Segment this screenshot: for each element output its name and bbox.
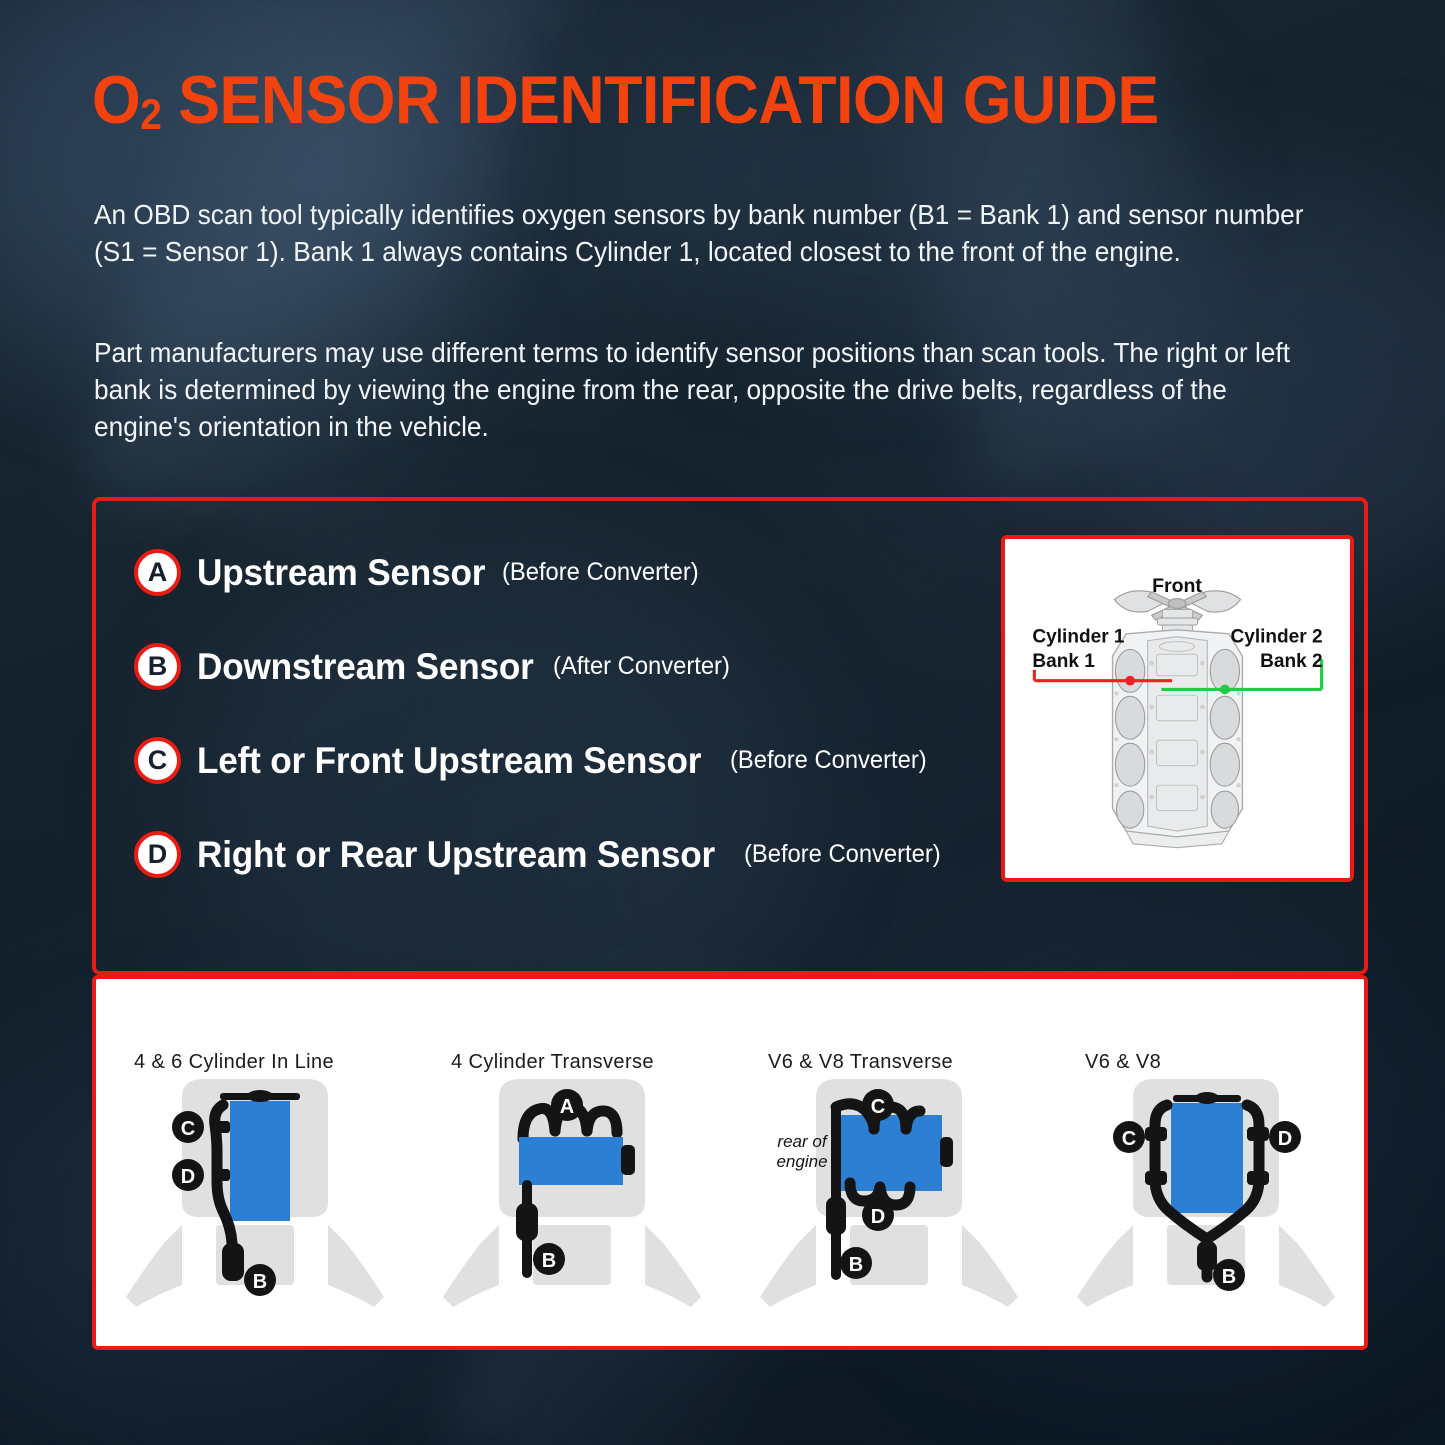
layout-diagram-inline-illustration: C D B [120, 1075, 390, 1307]
badge-c-marker: C [1113, 1121, 1145, 1153]
engine-layout-list: 4 & 6 Cylinder In Line [96, 979, 1364, 1346]
legend-item-c: C Left or Front Upstream Sensor (Before … [134, 737, 937, 784]
transmission-shape [940, 1137, 953, 1167]
page-title-o: O [92, 62, 140, 138]
page-title-rest: SENSOR IDENTIFICATION GUIDE [161, 62, 1158, 138]
page-title-subscript: 2 [140, 91, 161, 138]
layout-diagram-v-transverse-illustration: rear of engine C D B [754, 1075, 1024, 1307]
engine-block-shape [519, 1137, 623, 1185]
badge-d-icon: D [134, 831, 181, 878]
legend-item-c-label: Left or Front Upstream Sensor [197, 740, 701, 782]
infographic-page: O2 SENSOR IDENTIFICATION GUIDE An OBD sc… [0, 0, 1445, 1445]
layout-diagram-v-transverse-title: V6 & V8 Transverse [768, 1051, 953, 1074]
layout-diagram-inline: 4 & 6 Cylinder In Line [96, 979, 413, 1346]
layout-diagram-4cyl-transverse-illustration: A B [437, 1075, 707, 1307]
engine-bank1-label: Bank 1 [1032, 651, 1095, 672]
svg-text:C: C [870, 1096, 884, 1118]
badge-b-icon: B [134, 643, 181, 690]
bank1-pointer-dot [1125, 676, 1135, 686]
svg-text:A: A [559, 1096, 573, 1118]
layout-diagram-inline-title: 4 & 6 Cylinder In Line [134, 1051, 334, 1074]
badge-b-marker: B [244, 1264, 276, 1296]
engine-block-shape [1171, 1103, 1243, 1213]
engine-front-label: Front [1152, 575, 1202, 597]
layout-diagram-v-transverse: V6 & V8 Transverse [730, 979, 1047, 1346]
page-title: O2 SENSOR IDENTIFICATION GUIDE [92, 66, 1159, 134]
catalytic-converter-shape [222, 1243, 244, 1281]
svg-text:B: B [252, 1271, 266, 1293]
legend-item-d-note: (Before Converter) [744, 840, 941, 869]
layout-diagram-v-longitudinal-title: V6 & V8 [1085, 1051, 1161, 1074]
engine-block-shape [230, 1101, 290, 1221]
layout-diagram-4cyl-transverse: 4 Cylinder Transverse [413, 979, 730, 1346]
badge-a-icon: A [134, 549, 181, 596]
badge-d-marker: D [172, 1159, 204, 1191]
legend-item-b-label: Downstream Sensor [197, 646, 534, 688]
layout-diagram-v-longitudinal: V6 & V8 [1047, 979, 1364, 1346]
svg-text:C: C [180, 1118, 194, 1140]
engine-cylinder2-label: Cylinder 2 [1230, 627, 1322, 648]
badge-a-marker: A [551, 1089, 583, 1121]
legend-panel: A Upstream Sensor (Before Converter) B D… [92, 497, 1368, 975]
transmission-shape [621, 1145, 635, 1175]
engine-cylinder1-label: Cylinder 1 [1032, 627, 1124, 648]
layout-diagram-v-longitudinal-illustration: C D B [1071, 1075, 1341, 1307]
svg-text:D: D [870, 1206, 884, 1228]
layout-diagram-4cyl-transverse-title: 4 Cylinder Transverse [451, 1051, 654, 1074]
rear-of-engine-note-line1: rear of [777, 1132, 828, 1151]
legend-item-c-note: (Before Converter) [730, 746, 927, 775]
badge-d-marker: D [862, 1199, 894, 1231]
legend-item-a-note: (Before Converter) [502, 558, 699, 587]
engine-block-card: Front Cylinder 1 Bank 1 Cylinder 2 Bank … [1001, 535, 1354, 882]
catalytic-converter-shape [516, 1203, 538, 1241]
bank2-pointer-dot [1220, 685, 1230, 695]
badge-b-marker: B [1213, 1259, 1245, 1291]
engine-block-body [1113, 630, 1243, 848]
badge-d-marker: D [1269, 1121, 1301, 1153]
engine-bank2-label: Bank 2 [1260, 651, 1322, 672]
svg-text:D: D [1277, 1128, 1291, 1150]
svg-text:B: B [1221, 1266, 1235, 1288]
badge-c-icon: C [134, 737, 181, 784]
legend-item-d: D Right or Rear Upstream Sensor (Before … [134, 831, 951, 878]
legend-item-d-label: Right or Rear Upstream Sensor [197, 834, 715, 876]
engine-block-illustration: Front Cylinder 1 Bank 1 Cylinder 2 Bank … [1005, 539, 1350, 878]
legend-item-b: B Downstream Sensor (After Converter) [134, 643, 740, 690]
catalytic-converter-shape [826, 1197, 846, 1235]
legend-item-b-note: (After Converter) [553, 652, 730, 681]
catalytic-converter-shape [1197, 1241, 1217, 1271]
rear-of-engine-note-line2: engine [776, 1152, 827, 1171]
svg-text:C: C [1121, 1128, 1135, 1150]
legend-item-a: A Upstream Sensor (Before Converter) [134, 549, 709, 596]
svg-text:B: B [541, 1250, 555, 1272]
badge-c-marker: C [172, 1111, 204, 1143]
intro-paragraph-2: Part manufacturers may use different ter… [94, 335, 1309, 446]
badge-b-marker: B [840, 1247, 872, 1279]
legend-item-a-label: Upstream Sensor [197, 552, 485, 594]
engine-layout-panel: 4 & 6 Cylinder In Line [92, 975, 1368, 1350]
svg-text:B: B [848, 1254, 862, 1276]
badge-b-marker: B [533, 1243, 565, 1275]
intro-paragraph-1: An OBD scan tool typically identifies ox… [94, 197, 1309, 271]
badge-c-marker: C [862, 1089, 894, 1121]
svg-text:D: D [180, 1166, 194, 1188]
